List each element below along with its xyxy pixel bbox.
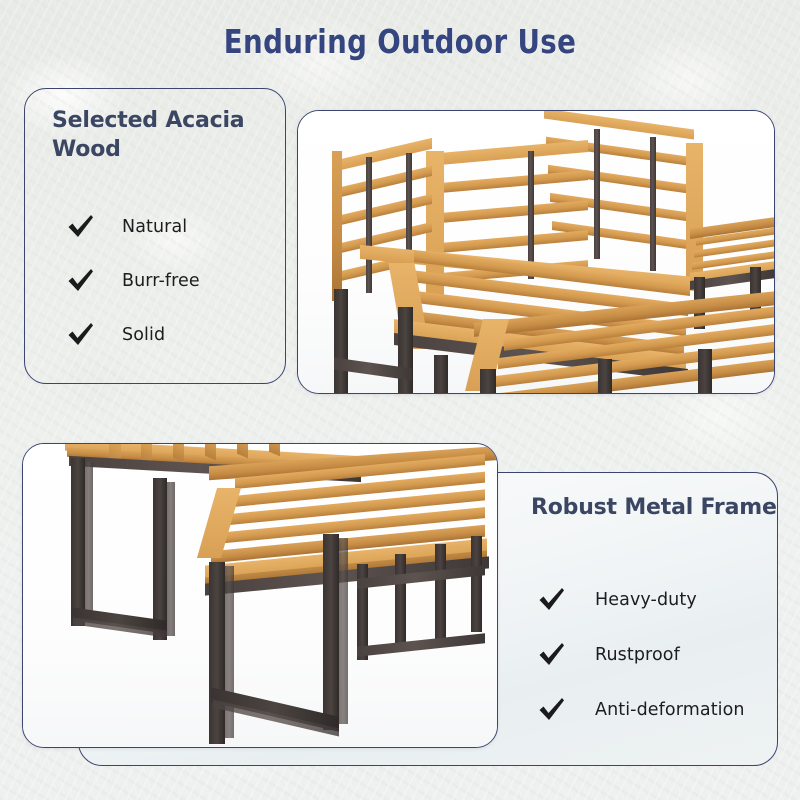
backrest-center-top-rail bbox=[428, 140, 588, 166]
front-bench-leg bbox=[480, 369, 496, 394]
rear-bench-leg-outer bbox=[71, 458, 85, 626]
feature-row: Rustproof bbox=[537, 627, 745, 682]
check-icon bbox=[66, 214, 96, 240]
backrest-left-metal-post bbox=[366, 157, 372, 293]
feature-row: Burr-free bbox=[66, 254, 200, 308]
card-heading-metal-frame: Robust Metal Frame bbox=[531, 495, 777, 520]
infographic-stage: Enduring Outdoor Use bbox=[0, 0, 800, 800]
product-photo-sofa bbox=[297, 110, 775, 394]
feature-label: Burr-free bbox=[122, 271, 200, 291]
front-bench-leg bbox=[598, 359, 612, 394]
backrest-left-end-post bbox=[332, 151, 342, 301]
rear-bench-leg-inner-face-2 bbox=[167, 482, 175, 636]
feature-label: Rustproof bbox=[595, 645, 680, 665]
feature-label: Solid bbox=[122, 325, 165, 345]
feature-list-wood: Natural Burr-free Solid bbox=[66, 200, 200, 362]
sofa-leg-front-center bbox=[434, 355, 448, 394]
rear-bench-leg-outer-2 bbox=[153, 478, 167, 640]
backrest-center-slat bbox=[430, 200, 588, 224]
check-icon bbox=[537, 697, 567, 723]
side-frame-post bbox=[435, 544, 446, 640]
side-frame-post bbox=[395, 554, 406, 650]
feature-label: Heavy-duty bbox=[595, 590, 697, 610]
photo-canvas-sofa bbox=[298, 111, 774, 393]
front-bench-leg-outer-2 bbox=[323, 534, 339, 730]
backrest-center-metal-post bbox=[528, 151, 534, 279]
card-heading-wood: Selected Acacia Wood bbox=[52, 106, 262, 165]
page-title: Enduring Outdoor Use bbox=[28, 22, 772, 61]
side-frame-bottom-rail bbox=[357, 633, 485, 656]
rear-bench-leg-inner-face bbox=[85, 462, 93, 622]
backrest-right-metal-post bbox=[650, 137, 656, 271]
feature-label: Anti-deformation bbox=[595, 700, 745, 720]
backrest-center-slat bbox=[430, 170, 588, 194]
backrest-left-slat bbox=[336, 166, 432, 198]
backrest-left-slat bbox=[336, 194, 432, 226]
bench-illustration bbox=[23, 444, 498, 748]
front-bench-leg bbox=[698, 349, 712, 394]
product-photo-benches bbox=[22, 443, 498, 748]
check-icon bbox=[537, 642, 567, 668]
check-icon bbox=[66, 268, 96, 294]
front-bench-leg-inner-face-2 bbox=[339, 538, 348, 724]
backrest-right-metal-post bbox=[594, 129, 600, 259]
feature-label: Natural bbox=[122, 217, 187, 237]
sofa-leg-back-left bbox=[334, 289, 348, 394]
backrest-left-top-rail bbox=[336, 138, 432, 171]
backrest-right-top-rail bbox=[544, 110, 694, 140]
photo-canvas-benches bbox=[23, 444, 497, 747]
sofa-illustration bbox=[298, 111, 775, 394]
feature-row: Heavy-duty bbox=[537, 572, 745, 627]
front-bench-leg-outer bbox=[209, 562, 225, 744]
backrest-center-slat bbox=[430, 230, 588, 254]
check-icon bbox=[537, 587, 567, 613]
feature-row: Natural bbox=[66, 200, 200, 254]
feature-row: Anti-deformation bbox=[537, 682, 745, 737]
feature-row: Solid bbox=[66, 308, 200, 362]
side-frame-post bbox=[471, 536, 482, 632]
check-icon bbox=[66, 322, 96, 348]
sofa-leg-front-left bbox=[398, 307, 413, 394]
feature-list-metal-frame: Heavy-duty Rustproof Anti-deformation bbox=[537, 572, 745, 737]
